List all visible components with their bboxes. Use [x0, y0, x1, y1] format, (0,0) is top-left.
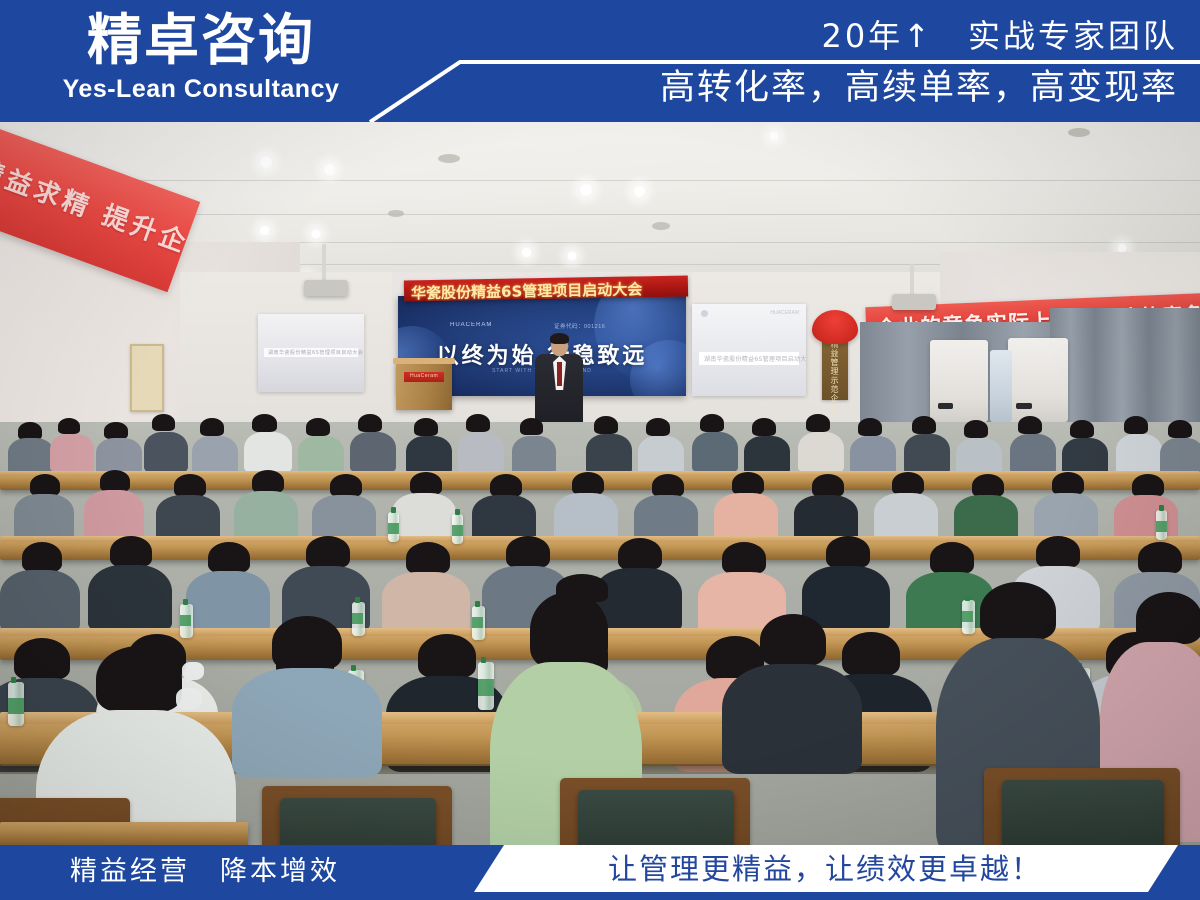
podium-logo-text: HuaCeram: [410, 373, 438, 379]
page-header: 精卓咨询 Yes-Lean Consultancy 20年↑ 实战专家团队 高转…: [0, 0, 1200, 122]
projector-right: [892, 294, 936, 310]
projector-left: [304, 280, 348, 296]
speaker-tie: [557, 362, 562, 386]
poster-page: 精卓咨询 Yes-Lean Consultancy 20年↑ 实战专家团队 高转…: [0, 0, 1200, 900]
desk-row: [0, 540, 1200, 560]
podium: HuaCeram: [396, 362, 452, 410]
wall-frame: [130, 344, 164, 412]
footer-slogan-right: 让管理更精益，让绩效更卓越！: [608, 851, 1042, 887]
brand-logo-en: Yes-Lean Consultancy: [36, 74, 366, 104]
footer-slogan-left: 精益经营 降本增效: [70, 854, 340, 890]
projector-mount: [322, 244, 326, 282]
page-footer: 精益经营 降本增效 让管理更精益，让绩效更卓越！: [0, 845, 1200, 900]
podium-logo: HuaCeram: [404, 372, 444, 382]
water-dispenser: [990, 350, 1012, 422]
red-ribbon-decoration: [812, 310, 858, 344]
screen-stock-code: 证券代码：001216: [554, 322, 605, 330]
side-display-right-caption: 湖南华瓷股份精益6S管理项目启动大会: [704, 354, 806, 363]
chair-back: [578, 790, 734, 845]
side-display-left: 湖南华瓷股份精益6S管理项目启动大会: [258, 314, 364, 392]
header-taglines: 20年↑ 实战专家团队 高转化率，高续单率，高变现率: [538, 0, 1178, 122]
screen-brand-text: HUACERAM: [450, 322, 492, 328]
chair-back: [1002, 780, 1164, 845]
brand-logo-cn: 精卓咨询: [36, 8, 366, 72]
projector-mount: [910, 264, 914, 296]
speaker-hair: [550, 333, 569, 344]
conference-photo: 精益求精 提升企业竞争力 企业的竞争实际上就是人才的竞争 HUACERAM 证券…: [0, 122, 1200, 845]
floor-cabinet: [930, 340, 988, 422]
side-display-right: HUACERAM 湖南华瓷股份精益6S管理项目启动大会: [692, 304, 806, 396]
wall-plaque-text: 精益管理示范企业: [829, 340, 839, 412]
floor-cabinet: [1008, 338, 1068, 422]
header-tagline-primary: 20年↑ 实战专家团队: [821, 16, 1178, 56]
side-display-right-tag: HUACERAM: [770, 310, 799, 316]
side-display-left-caption: 湖南华瓷股份精益6S管理项目启动大会: [268, 349, 363, 356]
brand-logo[interactable]: 精卓咨询 Yes-Lean Consultancy: [36, 8, 366, 112]
screen-logo-mark: [701, 310, 708, 317]
chair-back: [280, 798, 436, 845]
header-tagline-secondary: 高转化率，高续单率，高变现率: [660, 66, 1178, 110]
